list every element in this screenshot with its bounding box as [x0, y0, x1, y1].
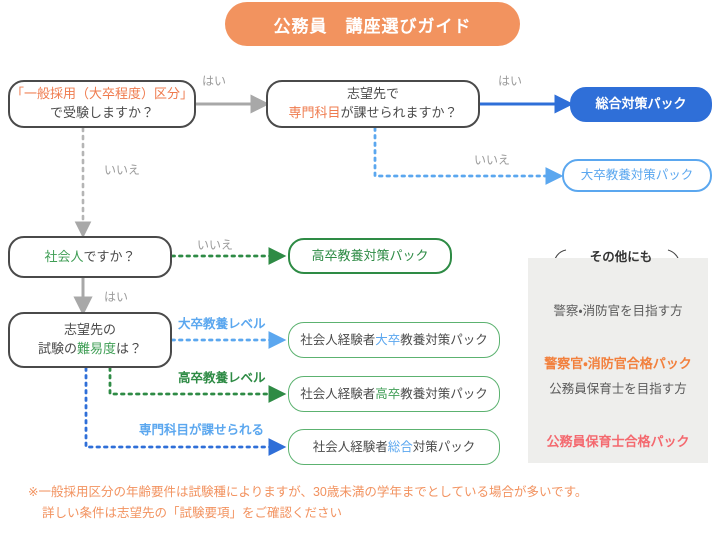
side-panel-pack-2[interactable]: 公務員保育士合格パック [528, 431, 708, 450]
footnote: ※一般採用区分の年齢要件は試験種によりますが、30歳未満の学年までとしている場合… [28, 482, 688, 525]
result-kosotsu-kyoyo-label: 高卒教養対策パック [311, 247, 428, 266]
page-title-text: 公務員 講座選びガイド [274, 12, 472, 37]
question-node-exam-difficulty[interactable]: 志望先の 試験の難易度は？ [8, 312, 172, 368]
exp-sogo-post: 対策パック [413, 440, 476, 454]
flowchart-canvas: 公務員 講座選びガイド [0, 0, 720, 540]
footnote-line-2: 詳しい条件は志望先の「試験要項」をご確認ください [28, 503, 688, 524]
q4-line2-highlight: 難易度 [77, 341, 116, 356]
q3-rest: ですか？ [84, 249, 136, 264]
side-panel-target-1: 警察・消防官を目指す方 [528, 300, 708, 319]
edge-label-q4-kosotsu: 高卒教養レベル [178, 367, 266, 386]
result-node-exp-sogo-pack[interactable]: 社会人経験者総合対策パック [288, 429, 500, 465]
footnote-line-1: ※一般採用区分の年齢要件は試験種によりますが、30歳未満の学年までとしている場合… [28, 485, 587, 499]
result-sogo-label: 総合対策パック [595, 95, 686, 114]
result-node-daisotsu-kyoyo-pack[interactable]: 大卒教養対策パック [562, 159, 712, 192]
question-node-general-recruitment[interactable]: 「一般採用（大卒程度）区分」 で受験しますか？ [8, 80, 196, 128]
edge-label-q2-yes: はい [498, 72, 522, 89]
result-node-sogo-taisaku-pack[interactable]: 総合対策パック [570, 87, 712, 122]
edge-label-q1-no: いいえ [104, 161, 140, 178]
exp-daisotsu-highlight: 大卒 [375, 333, 400, 347]
page-title: 公務員 講座選びガイド [225, 2, 520, 46]
exp-sogo-pre: 社会人経験者 [313, 440, 388, 454]
result-node-exp-kosotsu-kyoyo-pack[interactable]: 社会人経験者高卒教養対策パック [288, 376, 500, 412]
exp-sogo-highlight: 総合 [388, 440, 413, 454]
q4-line2-post: は？ [116, 341, 142, 356]
q4-line1: 志望先の [64, 322, 116, 337]
side-panel-bubble-label: その他にも [576, 246, 666, 265]
edge-label-q4-daisotsu: 大卒教養レベル [178, 313, 266, 332]
q4-line2-pre: 試験の [38, 341, 77, 356]
edge-label-q1-yes: はい [202, 72, 226, 89]
q1-line1: 「一般採用（大卒程度）区分」 [11, 86, 193, 101]
exp-kosotsu-post: 教養対策パック [400, 387, 488, 401]
question-node-working-adult[interactable]: 社会人ですか？ [8, 236, 172, 278]
side-panel-target-2: 公務員保育士を目指す方 [528, 378, 708, 397]
exp-kosotsu-pre: 社会人経験者 [300, 387, 375, 401]
edge-label-q3-yes: はい [104, 288, 128, 305]
q1-line2: で受験しますか？ [50, 105, 154, 120]
q3-highlight: 社会人 [44, 249, 83, 264]
edge-q2-no [375, 128, 560, 176]
exp-daisotsu-post: 教養対策パック [400, 333, 488, 347]
q2-line1: 志望先で [347, 86, 399, 101]
result-daisotsu-kyoyo-label: 大卒教養対策パック [581, 166, 694, 184]
exp-daisotsu-pre: 社会人経験者 [300, 333, 375, 347]
result-node-exp-daisotsu-kyoyo-pack[interactable]: 社会人経験者大卒教養対策パック [288, 322, 500, 358]
edge-label-q2-no: いいえ [474, 151, 510, 168]
edge-label-q4-senmon: 専門科目が課せられる [139, 419, 264, 438]
question-node-specialized-subjects[interactable]: 志望先で 専門科目が課せられますか？ [266, 80, 480, 128]
exp-kosotsu-highlight: 高卒 [375, 387, 400, 401]
q2-line2-rest: が課せられますか？ [341, 105, 458, 120]
result-node-kosotsu-kyoyo-pack[interactable]: 高卒教養対策パック [288, 238, 452, 274]
side-panel-pack-1[interactable]: 警察官・消防官合格パック [528, 353, 708, 372]
q2-line2-highlight: 専門科目 [288, 105, 340, 120]
edge-label-q3-no: いいえ [197, 236, 233, 253]
